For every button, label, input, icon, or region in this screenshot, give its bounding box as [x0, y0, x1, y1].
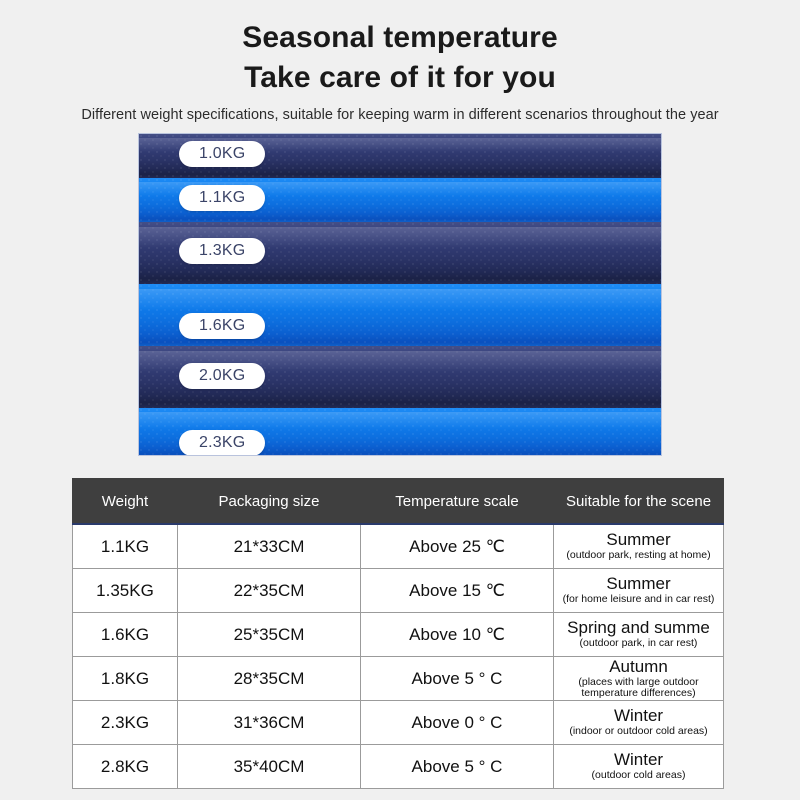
cell-packaging: 28*35CM — [178, 657, 361, 701]
fabric-band: 1.3KG — [139, 222, 661, 284]
scene-title: Winter — [555, 707, 722, 725]
cell-scene: Spring and summe (outdoor park, in car r… — [554, 613, 724, 657]
cell-temperature: Above 0 ° C — [361, 701, 554, 745]
specification-table: Weight Packaging size Temperature scale … — [72, 478, 723, 789]
scene-title: Summer — [555, 531, 722, 549]
page-subtitle: Different weight specifications, suitabl… — [0, 107, 800, 123]
cell-temperature: Above 15 ℃ — [361, 569, 554, 613]
product-photo: 1.0KG 1.1KG 1.3KG 1.6KG 2.0KG 2.3KG — [138, 133, 662, 456]
page-header: Seasonal temperature Take care of it for… — [0, 0, 800, 123]
cell-scene: Winter (indoor or outdoor cold areas) — [554, 701, 724, 745]
column-header-weight: Weight — [73, 479, 178, 525]
cell-temperature: Above 10 ℃ — [361, 613, 554, 657]
cell-weight: 1.6KG — [73, 613, 178, 657]
cell-weight: 1.8KG — [73, 657, 178, 701]
scene-note: (outdoor park, resting at home) — [555, 550, 722, 561]
cell-weight: 2.8KG — [73, 745, 178, 789]
cell-packaging: 31*36CM — [178, 701, 361, 745]
weight-badge: 1.3KG — [179, 238, 265, 264]
table-row: 1.1KG 21*33CM Above 25 ℃ Summer (outdoor… — [73, 524, 724, 569]
cell-scene: Winter (outdoor cold areas) — [554, 745, 724, 789]
scene-title: Winter — [555, 751, 722, 769]
cell-weight: 2.3KG — [73, 701, 178, 745]
column-header-temperature: Temperature scale — [361, 479, 554, 525]
table-row: 1.35KG 22*35CM Above 15 ℃ Summer (for ho… — [73, 569, 724, 613]
fabric-band: 1.0KG — [139, 134, 661, 178]
fabric-band: 1.1KG — [139, 178, 661, 222]
fabric-band: 2.3KG — [139, 408, 661, 456]
weight-badge: 1.1KG — [179, 185, 265, 211]
scene-note: (outdoor park, in car rest) — [555, 638, 722, 649]
cell-packaging: 25*35CM — [178, 613, 361, 657]
scene-title: Summer — [555, 575, 722, 593]
column-header-scene: Suitable for the scene — [554, 479, 724, 525]
weight-badge: 2.3KG — [179, 430, 265, 456]
page-title-line-2: Take care of it for you — [0, 58, 800, 98]
column-header-packaging: Packaging size — [178, 479, 361, 525]
scene-title: Spring and summe — [555, 619, 722, 637]
fabric-band: 2.0KG — [139, 346, 661, 408]
table-header-row: Weight Packaging size Temperature scale … — [73, 479, 724, 525]
table-row: 1.8KG 28*35CM Above 5 ° C Autumn (places… — [73, 657, 724, 701]
cell-scene: Autumn (places with large outdoor temper… — [554, 657, 724, 701]
scene-title: Autumn — [555, 658, 722, 676]
page-title-line-1: Seasonal temperature — [0, 18, 800, 58]
cell-weight: 1.35KG — [73, 569, 178, 613]
cell-scene: Summer (outdoor park, resting at home) — [554, 524, 724, 569]
cell-temperature: Above 25 ℃ — [361, 524, 554, 569]
scene-note: (for home leisure and in car rest) — [555, 594, 722, 605]
fabric-band: 1.6KG — [139, 284, 661, 346]
table-row: 1.6KG 25*35CM Above 10 ℃ Spring and summ… — [73, 613, 724, 657]
table-row: 2.8KG 35*40CM Above 5 ° C Winter (outdoo… — [73, 745, 724, 789]
cell-temperature: Above 5 ° C — [361, 745, 554, 789]
scene-note: (places with large outdoor temperature d… — [555, 677, 722, 700]
cell-packaging: 21*33CM — [178, 524, 361, 569]
table-row: 2.3KG 31*36CM Above 0 ° C Winter (indoor… — [73, 701, 724, 745]
cell-scene: Summer (for home leisure and in car rest… — [554, 569, 724, 613]
cell-temperature: Above 5 ° C — [361, 657, 554, 701]
weight-badge: 1.0KG — [179, 141, 265, 167]
weight-badge: 1.6KG — [179, 313, 265, 339]
scene-note: (indoor or outdoor cold areas) — [555, 726, 722, 737]
cell-packaging: 22*35CM — [178, 569, 361, 613]
cell-weight: 1.1KG — [73, 524, 178, 569]
scene-note: (outdoor cold areas) — [555, 770, 722, 781]
weight-badge: 2.0KG — [179, 363, 265, 389]
cell-packaging: 35*40CM — [178, 745, 361, 789]
